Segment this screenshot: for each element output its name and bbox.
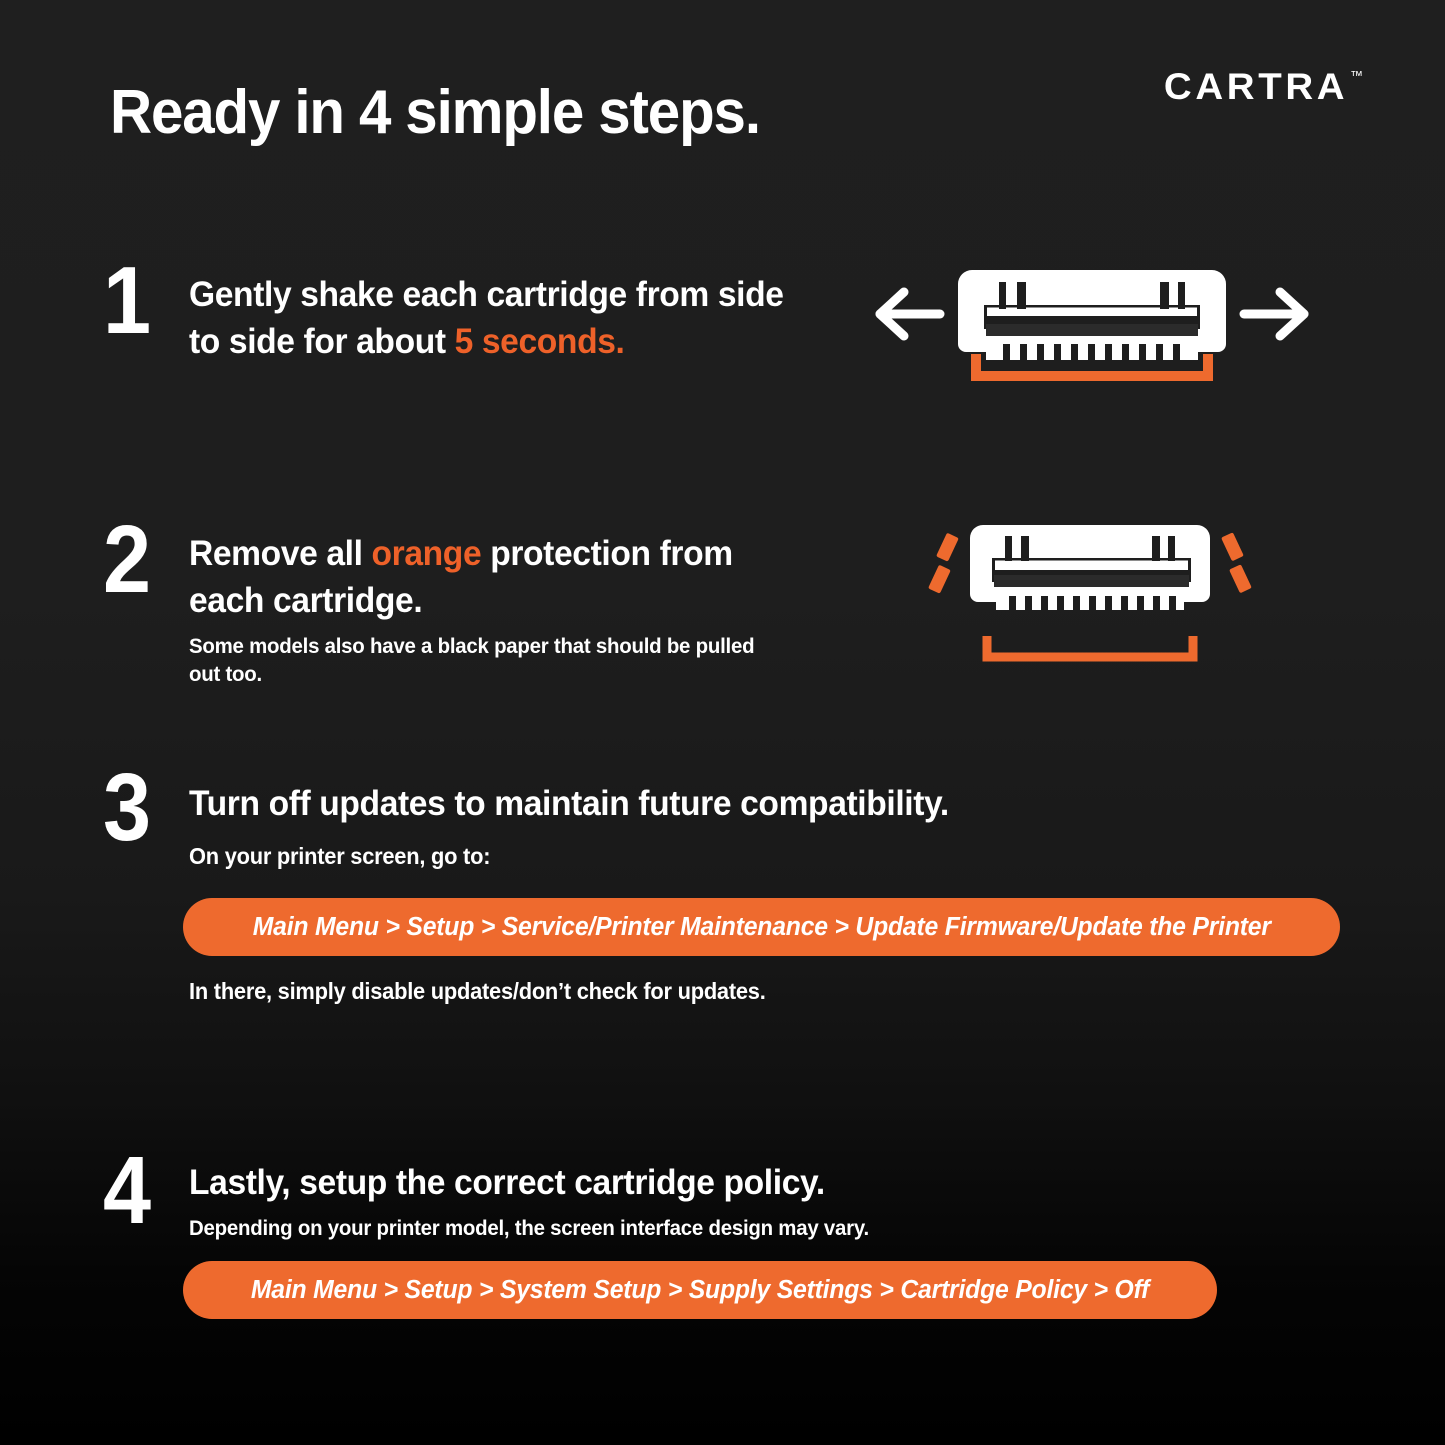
step-1-heading-highlight: 5 seconds. (455, 322, 625, 361)
step-3-menu-path-pill[interactable]: Main Menu > Setup > Service/Printer Main… (183, 898, 1340, 956)
infographic-page: Ready in 4 simple steps. CARTRA ™ 1 Gent… (0, 0, 1445, 1445)
cartridge-shake-icon (872, 248, 1312, 388)
step-1-heading: Gently shake each cartridge from side to… (189, 272, 803, 365)
step-2-heading-text: Remove all (189, 534, 372, 573)
brand-logo-text: CARTRA (1164, 68, 1348, 105)
step-2-subtext: Some models also have a black paper that… (189, 633, 778, 689)
step-3-menu-path-text: Main Menu > Setup > Service/Printer Main… (252, 913, 1270, 942)
step-4-number: 4 (103, 1152, 149, 1231)
step-2-heading-highlight: orange (372, 534, 482, 573)
step-3-footer: In there, simply disable updates/don’t c… (189, 977, 1089, 1007)
step-3-body: Turn off updates to maintain future comp… (189, 781, 1139, 871)
step-2-number: 2 (103, 521, 149, 600)
step-3-heading: Turn off updates to maintain future comp… (189, 781, 1101, 828)
trademark-symbol: ™ (1350, 69, 1363, 82)
step-4-menu-path-text: Main Menu > Setup > System Setup > Suppl… (251, 1276, 1149, 1305)
cartridge-remove-protection-icon (925, 512, 1255, 672)
step-4-body: Lastly, setup the correct cartridge poli… (189, 1160, 1089, 1242)
step-4-menu-path-pill[interactable]: Main Menu > Setup > System Setup > Suppl… (183, 1261, 1217, 1319)
step-3-subtext: On your printer screen, go to: (189, 842, 1092, 872)
step-2-heading: Remove all orange protection from each c… (189, 531, 784, 624)
step-4-heading: Lastly, setup the correct cartridge poli… (189, 1160, 1053, 1207)
step-1-body: Gently shake each cartridge from side to… (189, 272, 829, 365)
step-3-number: 3 (103, 769, 149, 848)
page-title: Ready in 4 simple steps. (110, 82, 760, 144)
step-3-footer-text: In there, simply disable updates/don’t c… (189, 977, 1044, 1007)
step-1-number: 1 (103, 262, 149, 341)
step-2-body: Remove all orange protection from each c… (189, 531, 809, 689)
step-4-subtext: Depending on your printer model, the scr… (189, 1215, 1044, 1243)
brand-logo: CARTRA ™ (1171, 68, 1363, 105)
